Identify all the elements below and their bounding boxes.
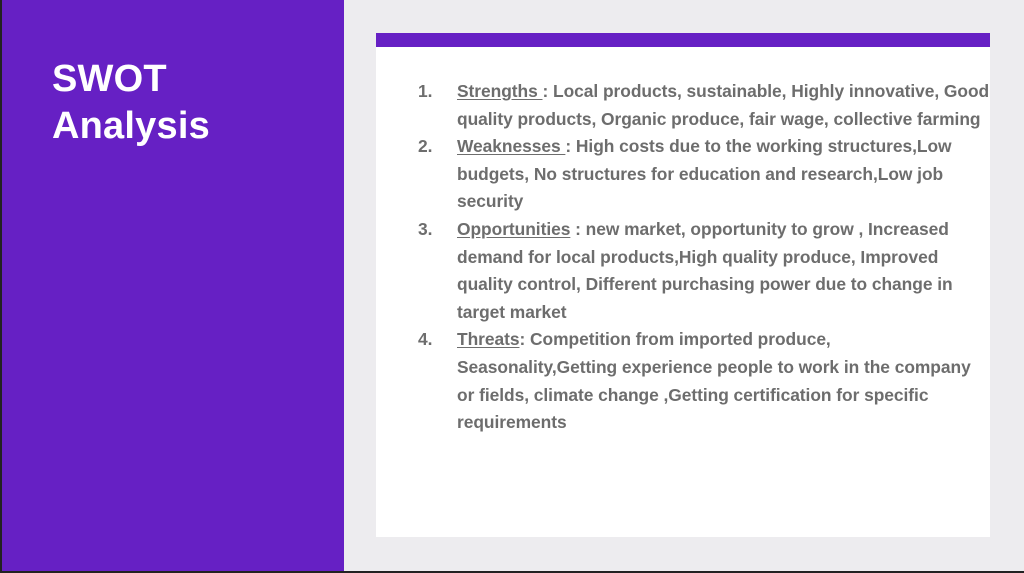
list-item-separator: : [565,136,576,156]
list-item-separator: : [543,81,554,101]
list-item-separator: : [570,219,585,239]
swot-list: 1.Strengths : Local products, sustainabl… [376,47,990,437]
list-item-lead: Strengths [457,81,543,101]
page-title: SWOT Analysis [52,56,322,150]
accent-bar [376,33,990,47]
page-title-line-1: SWOT [52,56,322,103]
list-item-lead: Weaknesses [457,136,565,156]
swot-analysis-slide: SWOT Analysis 1.Strengths : Local produc… [0,0,1024,573]
page-title-line-2: Analysis [52,103,322,150]
list-item-number: 2. [418,133,444,161]
list-item-separator: : [519,329,530,349]
title-panel: SWOT Analysis [2,0,344,573]
list-item: 4.Threats: Competition from imported pro… [376,326,990,436]
list-item-body: Competition from imported produce, Seaso… [457,329,971,432]
list-item: 2.Weaknesses : High costs due to the wor… [376,133,990,216]
list-item-number: 1. [418,78,444,106]
list-item-lead: Threats [457,329,519,349]
list-item-number: 3. [418,216,444,244]
list-item: 3.Opportunities : new market, opportunit… [376,216,990,326]
content-card: 1.Strengths : Local products, sustainabl… [376,33,990,537]
list-item-number: 4. [418,326,444,354]
list-item-lead: Opportunities [457,219,570,239]
list-item: 1.Strengths : Local products, sustainabl… [376,78,990,133]
